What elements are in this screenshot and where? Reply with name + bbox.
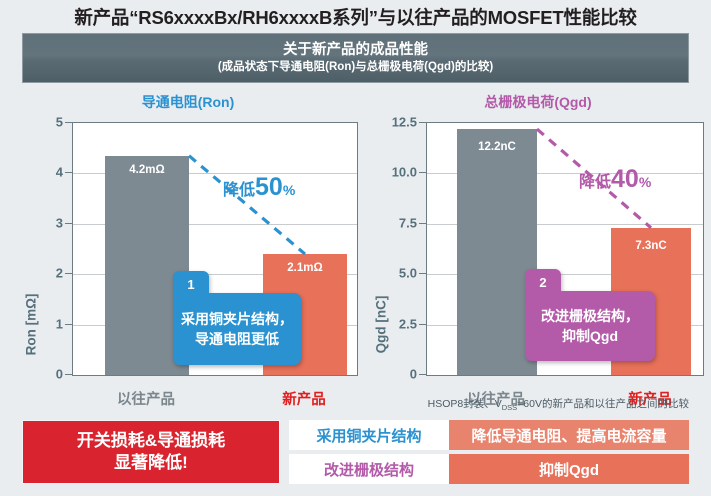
footnote-subscript: DSS (502, 403, 517, 412)
y-tick-label: 7.5 (399, 215, 417, 230)
y-tick-label: 5.0 (399, 266, 417, 281)
y-tick-label: 12.5 (392, 115, 417, 130)
footnote-suffix: =60V的新产品和以往产品之间的比较 (517, 398, 689, 410)
footnote-prefix: HSOP8封装、V (428, 398, 502, 410)
chart-qgd-ylabel: Qgd [nC] (373, 296, 388, 354)
bar-value-label: 4.2mΩ (105, 164, 189, 176)
bar-value-label: 7.3nC (611, 240, 691, 252)
conclusion-line-1: 开关损耗&导通损耗 (77, 430, 225, 452)
chart-qgd-title: 总栅极电荷(Qgd) (368, 92, 708, 112)
y-tick-mark (419, 172, 426, 173)
callout-line-1: 采用铜夹片结构， (181, 309, 293, 329)
reduction-unit: % (283, 182, 295, 198)
summary-cause-1: 采用铜夹片结构 (289, 420, 449, 450)
y-tick-label: 2.5 (399, 316, 417, 331)
subtitle-banner: 关于新产品的成品性能 (成品状态下导通电阻(Ron)与总栅极电荷(Qgd)的比较… (22, 33, 689, 83)
reduction-annotation: 降低50% (223, 175, 295, 200)
summary-table: 采用铜夹片结构 降低导通电阻、提高电流容量 改进栅极结构 抑制Qgd (289, 420, 689, 484)
y-tick-label: 0 (410, 367, 417, 382)
callout-line-2: 抑制Qgd (562, 326, 618, 346)
y-tick-mark (65, 223, 72, 224)
chart-ron-plot-area: 4.2mΩ2.1mΩ降低50%1采用铜夹片结构，导通电阻更低 (72, 122, 358, 376)
y-tick-mark (419, 324, 426, 325)
y-tick-mark (419, 122, 426, 123)
y-tick-label: 10.0 (392, 165, 417, 180)
chart-ron: 导通电阻(Ron) Ron [mΩ] 4.2mΩ2.1mΩ降低50%1采用铜夹片… (18, 92, 358, 382)
bar-value-label: 12.2nC (457, 141, 537, 153)
y-tick-label: 3 (56, 215, 63, 230)
chart-ron-title: 导通电阻(Ron) (18, 92, 358, 112)
callout-body: 采用铜夹片结构，导通电阻更低 (173, 293, 301, 365)
y-tick-label: 2 (56, 266, 63, 281)
y-tick-mark (65, 273, 72, 274)
conclusion-line-2: 显著降低! (114, 452, 188, 474)
reduction-number: 40 (611, 165, 639, 193)
y-tick-mark (419, 273, 426, 274)
conclusion-box: 开关损耗&导通损耗 显著降低! (22, 420, 280, 484)
table-row: 采用铜夹片结构 降低导通电阻、提高电流容量 (289, 420, 689, 450)
table-row: 改进栅极结构 抑制Qgd (289, 454, 689, 484)
y-tick-mark (65, 122, 72, 123)
callout-line-2: 导通电阻更低 (195, 329, 279, 349)
callout-line-1: 改进栅极结构， (541, 306, 639, 326)
footnote: HSOP8封装、VDSS=60V的新产品和以往产品之间的比较 (428, 396, 689, 412)
y-tick-mark (65, 324, 72, 325)
summary-effect-1: 降低导通电阻、提高电流容量 (449, 420, 689, 450)
x-axis-label-new: 新产品 (262, 388, 346, 409)
x-axis-label-conventional: 以往产品 (104, 388, 188, 409)
y-tick-label: 5 (56, 115, 63, 130)
reduction-number: 50 (255, 173, 283, 201)
callout-1: 1采用铜夹片结构，导通电阻更低 (173, 271, 301, 365)
summary-cause-2: 改进栅极结构 (289, 454, 449, 484)
y-tick-mark (419, 374, 426, 375)
y-tick-label: 1 (56, 316, 63, 331)
y-tick-mark (419, 223, 426, 224)
reduction-prefix: 降低 (223, 182, 255, 199)
reduction-prefix: 降低 (579, 174, 611, 191)
reduction-unit: % (639, 174, 651, 190)
chart-ron-ylabel: Ron [mΩ] (23, 294, 38, 356)
infographic-root: 新产品“RS6xxxxBx/RH6xxxxB系列”与以往产品的MOSFET性能比… (0, 0, 711, 496)
summary-effect-2: 抑制Qgd (449, 454, 689, 484)
y-tick-label: 4 (56, 165, 63, 180)
callout-2: 2改进栅极结构，抑制Qgd (525, 269, 655, 361)
page-title: 新产品“RS6xxxxBx/RH6xxxxB系列”与以往产品的MOSFET性能比… (0, 4, 711, 30)
callout-body: 改进栅极结构，抑制Qgd (525, 291, 655, 361)
y-tick-label: 0 (56, 367, 63, 382)
banner-line-2: (成品状态下导通电阻(Ron)与总栅极电荷(Qgd)的比较) (218, 60, 493, 75)
y-tick-mark (65, 374, 72, 375)
chart-qgd-plot-area: 12.2nC7.3nC降低40%2改进栅极结构，抑制Qgd (426, 122, 704, 376)
reduction-annotation: 降低40% (579, 167, 651, 192)
banner-line-1: 关于新产品的成品性能 (283, 41, 428, 59)
chart-qgd: 总栅极电荷(Qgd) Qgd [nC] 12.2nC7.3nC降低40%2改进栅… (368, 92, 708, 382)
y-tick-mark (65, 172, 72, 173)
